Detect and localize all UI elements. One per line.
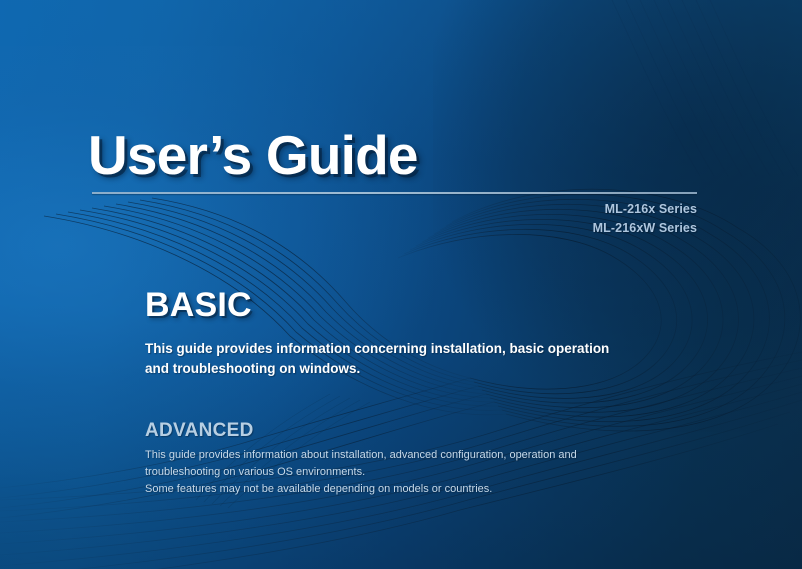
model-series-list: ML-216x Series ML-216xW Series: [593, 200, 697, 238]
basic-section-body: This guide provides information concerni…: [145, 339, 615, 378]
model-series-secondary: ML-216xW Series: [593, 219, 697, 238]
advanced-body-paragraph-1: This guide provides information about in…: [145, 447, 625, 480]
advanced-section-heading: ADVANCED: [145, 421, 254, 440]
model-series-primary: ML-216x Series: [593, 200, 697, 219]
advanced-section-body: This guide provides information about in…: [145, 447, 625, 498]
title-divider-rule: [92, 192, 697, 194]
swirl-vortex-core: [44, 198, 506, 415]
basic-section-heading: BASIC: [145, 288, 252, 322]
advanced-body-paragraph-2: Some features may not be available depen…: [145, 481, 625, 498]
user-guide-cover-page: User’s Guide ML-216x Series ML-216xW Ser…: [0, 0, 802, 569]
page-title: User’s Guide: [88, 128, 418, 183]
swirl-upper-right-hatch: [612, 0, 798, 176]
